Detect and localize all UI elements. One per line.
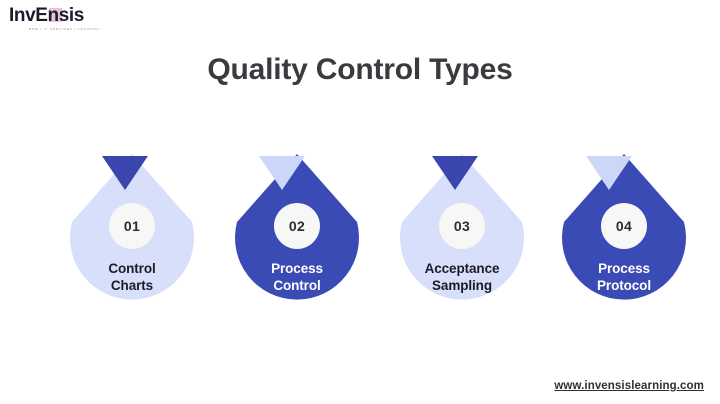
drop-label-2: Process Control <box>229 260 365 294</box>
drop-number-badge-3: 03 <box>439 203 485 249</box>
drop-label-2-line1: Process <box>229 260 365 277</box>
drop-item-3[interactable]: 03 Acceptance Sampling <box>394 150 530 338</box>
footer-website-link[interactable]: www.invensislearning.com <box>554 380 704 392</box>
drop-label-1: Control Charts <box>64 260 200 294</box>
drop-item-1[interactable]: 01 Control Charts <box>64 150 200 338</box>
drop-label-2-line2: Control <box>229 277 365 294</box>
drop-label-3-line2: Sampling <box>394 277 530 294</box>
drop-label-3-line1: Acceptance <box>394 260 530 277</box>
drop-label-3: Acceptance Sampling <box>394 260 530 294</box>
drop-number-badge-4: 04 <box>601 203 647 249</box>
drop-label-4-line1: Process <box>556 260 692 277</box>
brand-logo: InvEnsis BPM | IT SERVICES | TRAINING <box>9 6 119 36</box>
drop-item-4[interactable]: 04 Process Protocol <box>556 150 692 338</box>
drop-label-1-line1: Control <box>64 260 200 277</box>
drop-item-2[interactable]: 02 Process Control <box>229 150 365 338</box>
page-title: Quality Control Types <box>0 53 720 87</box>
drop-number-badge-2: 02 <box>274 203 320 249</box>
brand-logo-wordmark: InvEnsis <box>9 6 84 26</box>
drop-label-4: Process Protocol <box>556 260 692 294</box>
brand-logo-text-start: Inv <box>9 5 35 26</box>
drop-label-1-line2: Charts <box>64 277 200 294</box>
brand-logo-tagline: BPM | IT SERVICES | TRAINING <box>29 27 119 31</box>
drop-label-4-line2: Protocol <box>556 277 692 294</box>
drop-number-badge-1: 01 <box>109 203 155 249</box>
quality-control-types-diagram: 01 Control Charts 02 Process Control 03 <box>0 150 720 345</box>
brand-logo-text-mid: E <box>35 5 47 26</box>
brand-logo-text-end: nsis <box>48 5 84 26</box>
